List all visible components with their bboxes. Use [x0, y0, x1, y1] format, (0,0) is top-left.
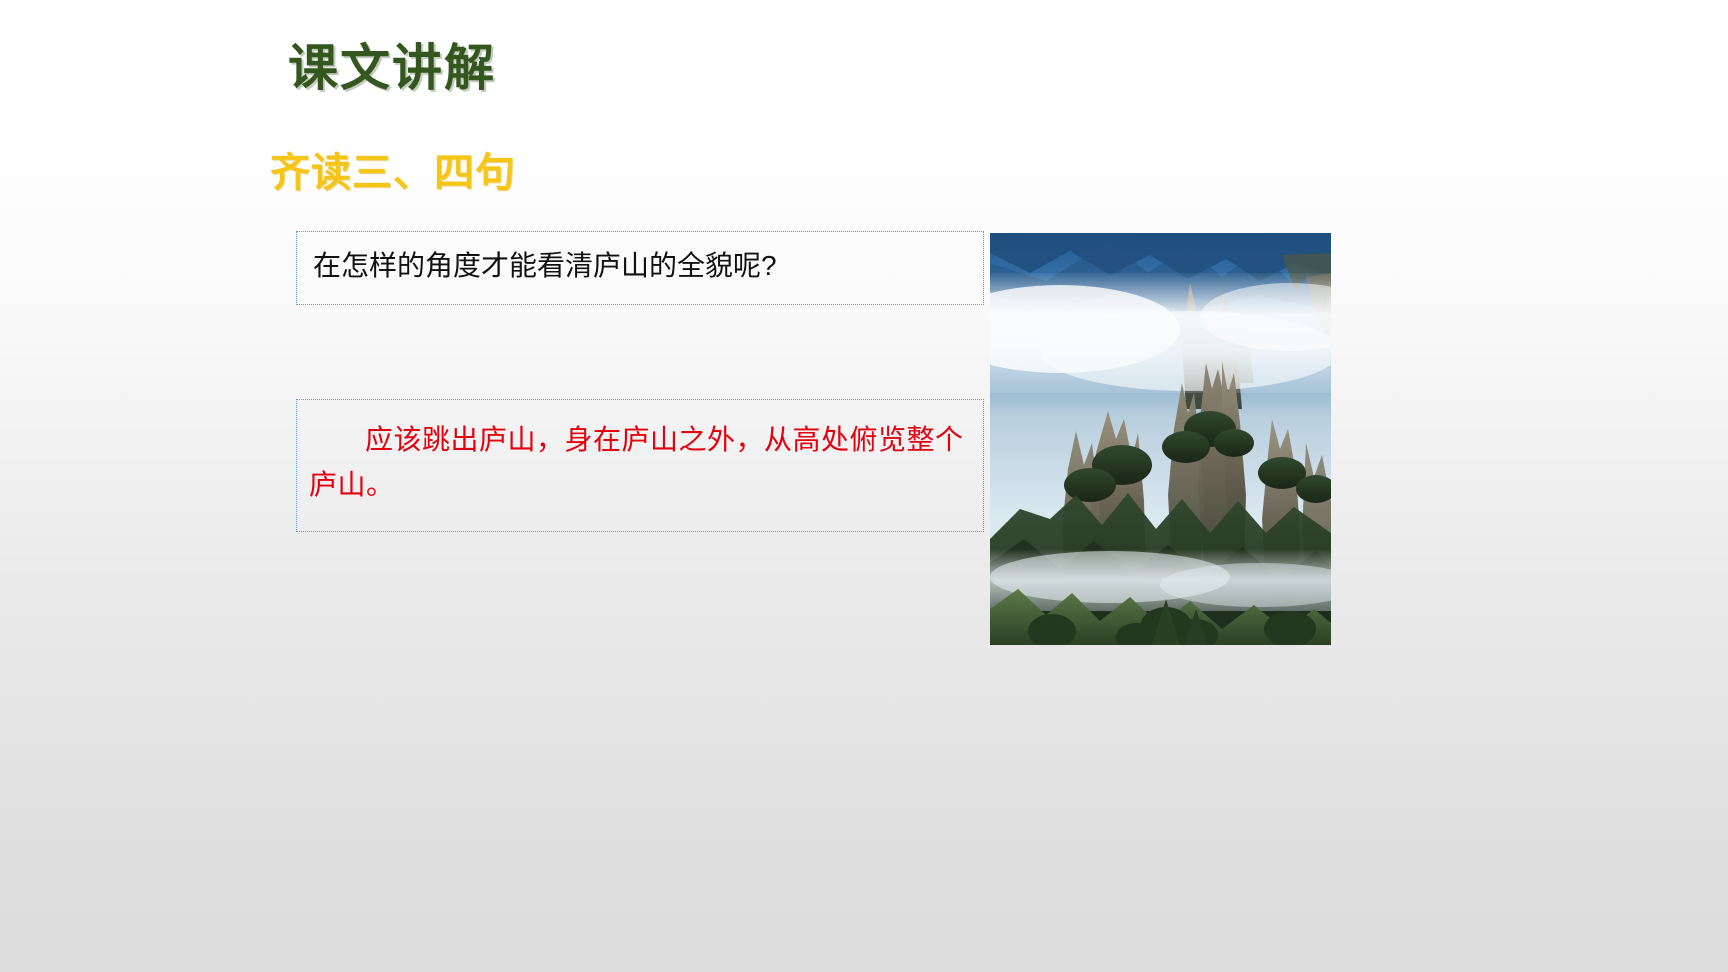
question-textbox[interactable]: 在怎样的角度才能看清庐山的全貌呢? [296, 231, 984, 305]
misty-mountain-peaks-photo [990, 233, 1331, 645]
mountain-photo-artwork [990, 233, 1331, 645]
answer-text: 应该跳出庐山，身在庐山之外，从高处俯览整个庐山。 [309, 417, 975, 508]
answer-textbox[interactable]: 应该跳出庐山，身在庐山之外，从高处俯览整个庐山。 [296, 399, 984, 532]
page-title: 课文讲解 [288, 40, 496, 98]
question-text: 在怎样的角度才能看清庐山的全貌呢? [313, 248, 983, 283]
slide-subtitle: 齐读三、四句 [270, 150, 516, 196]
presentation-slide: 课文讲解 齐读三、四句 在怎样的角度才能看清庐山的全貌呢? 应该跳出庐山，身在庐… [0, 0, 1728, 972]
